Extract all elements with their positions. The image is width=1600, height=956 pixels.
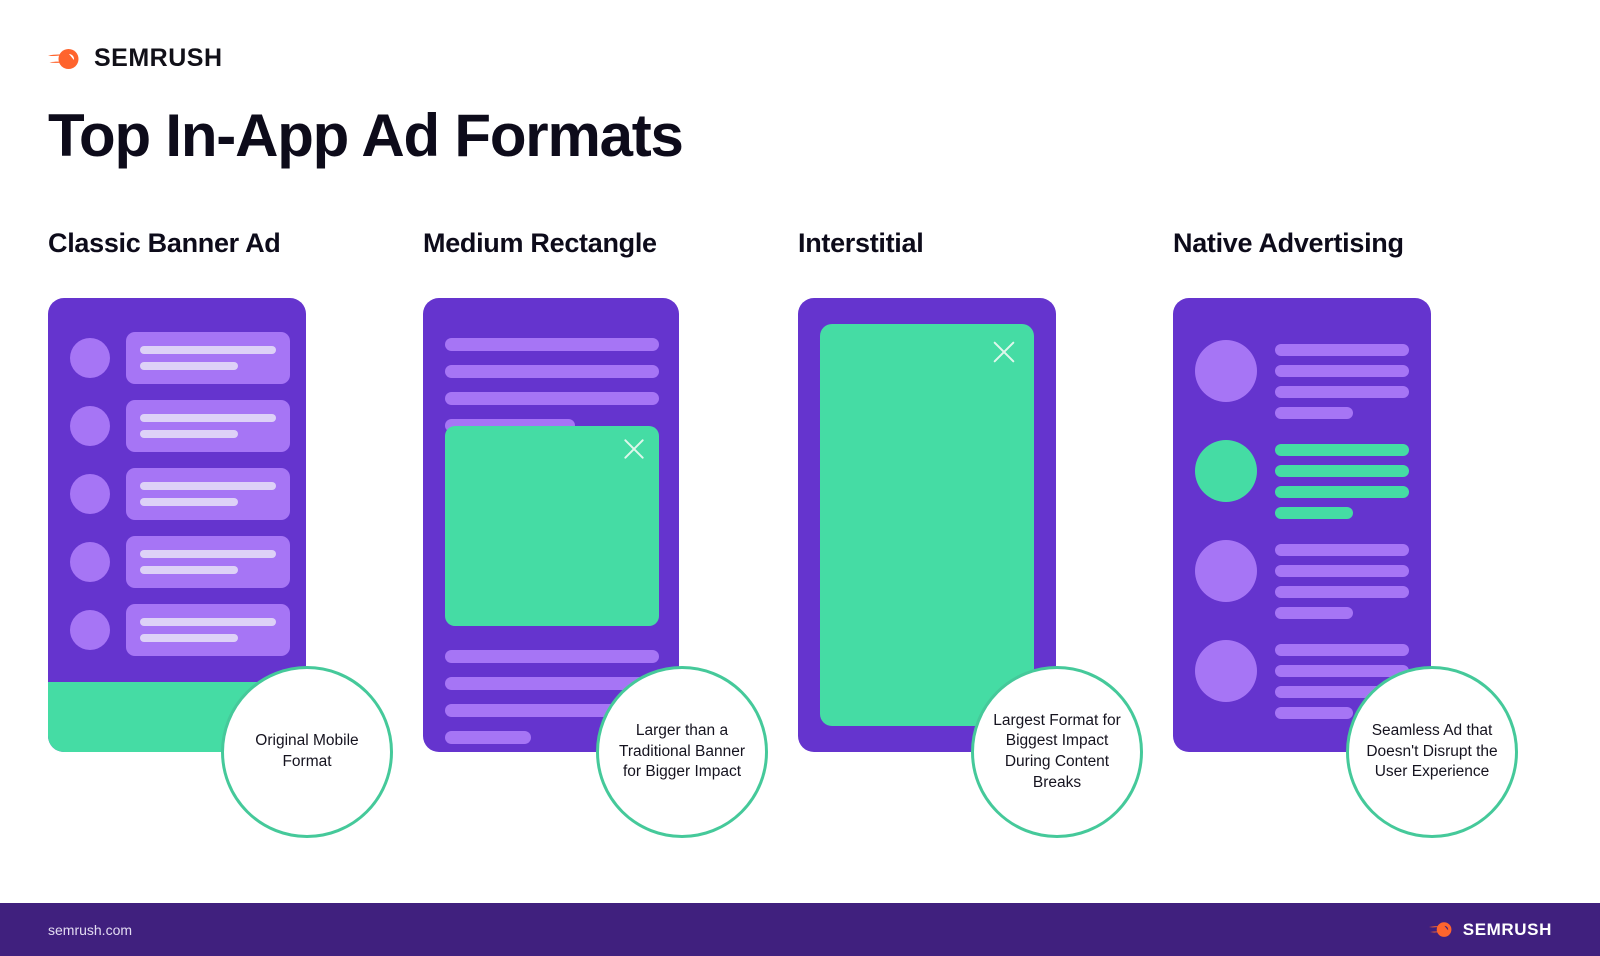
text-line	[140, 566, 238, 574]
footer-wordmark: SEMRUSH	[1463, 920, 1552, 940]
avatar	[70, 542, 110, 582]
avatar	[70, 474, 110, 514]
callout-bubble: Larger than a Traditional Banner for Big…	[596, 666, 768, 838]
footer-url[interactable]: semrush.com	[48, 922, 132, 938]
avatar	[70, 338, 110, 378]
text-line	[1275, 544, 1409, 556]
text-line	[140, 550, 276, 558]
feed-card	[126, 400, 290, 452]
infographic-page: SEMRUSH Top In-App Ad Formats Classic Ba…	[0, 0, 1600, 956]
list-item-sponsored[interactable]	[1195, 440, 1409, 519]
text-line	[445, 731, 531, 744]
text-line	[140, 634, 238, 642]
column-classic-banner-ad: Classic Banner Ad	[48, 0, 423, 890]
close-x-icon[interactable]	[621, 436, 647, 462]
text-line	[1275, 507, 1353, 519]
list-item	[70, 468, 290, 520]
feed-card	[126, 604, 290, 656]
text-line	[1275, 365, 1409, 377]
column-heading: Native Advertising	[1173, 228, 1404, 259]
text-line	[140, 618, 276, 626]
close-x-icon[interactable]	[990, 338, 1018, 366]
text-line	[1275, 644, 1409, 656]
text-line	[1275, 465, 1409, 477]
text-line	[1275, 707, 1353, 719]
text-line	[1275, 486, 1409, 498]
footer-logo: SEMRUSH	[1429, 920, 1552, 940]
text-line	[140, 414, 276, 422]
text-line	[1275, 586, 1409, 598]
page-footer: semrush.com SEMRUSH	[0, 903, 1600, 956]
column-native-advertising: Native Advertising	[1173, 0, 1548, 890]
list-item	[70, 536, 290, 588]
column-medium-rectangle: Medium Rectangle Larger than a Tr	[423, 0, 798, 890]
callout-text: Original Mobile Format	[238, 731, 376, 772]
text-line	[1275, 386, 1409, 398]
avatar	[1195, 340, 1257, 402]
text-block	[1275, 540, 1409, 619]
list-item	[1195, 340, 1409, 419]
callout-text: Largest Format for Biggest Impact During…	[988, 711, 1126, 793]
feed-card	[126, 468, 290, 520]
avatar-sponsored	[1195, 440, 1257, 502]
text-block-sponsored	[1275, 440, 1409, 519]
list-item	[70, 332, 290, 384]
feed-card	[126, 332, 290, 384]
text-line	[140, 362, 238, 370]
column-heading: Medium Rectangle	[423, 228, 657, 259]
text-line	[140, 346, 276, 354]
text-line	[1275, 344, 1409, 356]
text-line	[445, 392, 659, 405]
text-block	[1275, 340, 1409, 419]
list-item	[70, 604, 290, 656]
medium-rectangle-ad[interactable]	[445, 426, 659, 626]
text-line	[140, 498, 238, 506]
callout-text: Seamless Ad that Doesn't Disrupt the Use…	[1363, 721, 1501, 783]
text-line	[1275, 407, 1353, 419]
avatar	[1195, 640, 1257, 702]
callout-bubble: Largest Format for Biggest Impact During…	[971, 666, 1143, 838]
interstitial-ad[interactable]	[820, 324, 1034, 726]
feed-card	[126, 536, 290, 588]
list-item	[1195, 540, 1409, 619]
text-line	[1275, 665, 1409, 677]
text-line	[445, 338, 659, 351]
text-line	[445, 365, 659, 378]
text-line	[1275, 565, 1409, 577]
text-line	[140, 482, 276, 490]
avatar	[70, 406, 110, 446]
text-line	[1275, 607, 1353, 619]
text-line	[445, 650, 659, 663]
format-columns: Classic Banner Ad	[0, 0, 1600, 890]
semrush-comet-icon	[1429, 920, 1454, 939]
column-heading: Classic Banner Ad	[48, 228, 280, 259]
callout-bubble: Seamless Ad that Doesn't Disrupt the Use…	[1346, 666, 1518, 838]
avatar	[1195, 540, 1257, 602]
callout-bubble: Original Mobile Format	[221, 666, 393, 838]
avatar	[70, 610, 110, 650]
text-line	[1275, 444, 1409, 456]
text-line	[140, 430, 238, 438]
column-heading: Interstitial	[798, 228, 923, 259]
list-item	[70, 400, 290, 452]
callout-text: Larger than a Traditional Banner for Big…	[613, 721, 751, 783]
column-interstitial: Interstitial Largest Format for Biggest …	[798, 0, 1173, 890]
